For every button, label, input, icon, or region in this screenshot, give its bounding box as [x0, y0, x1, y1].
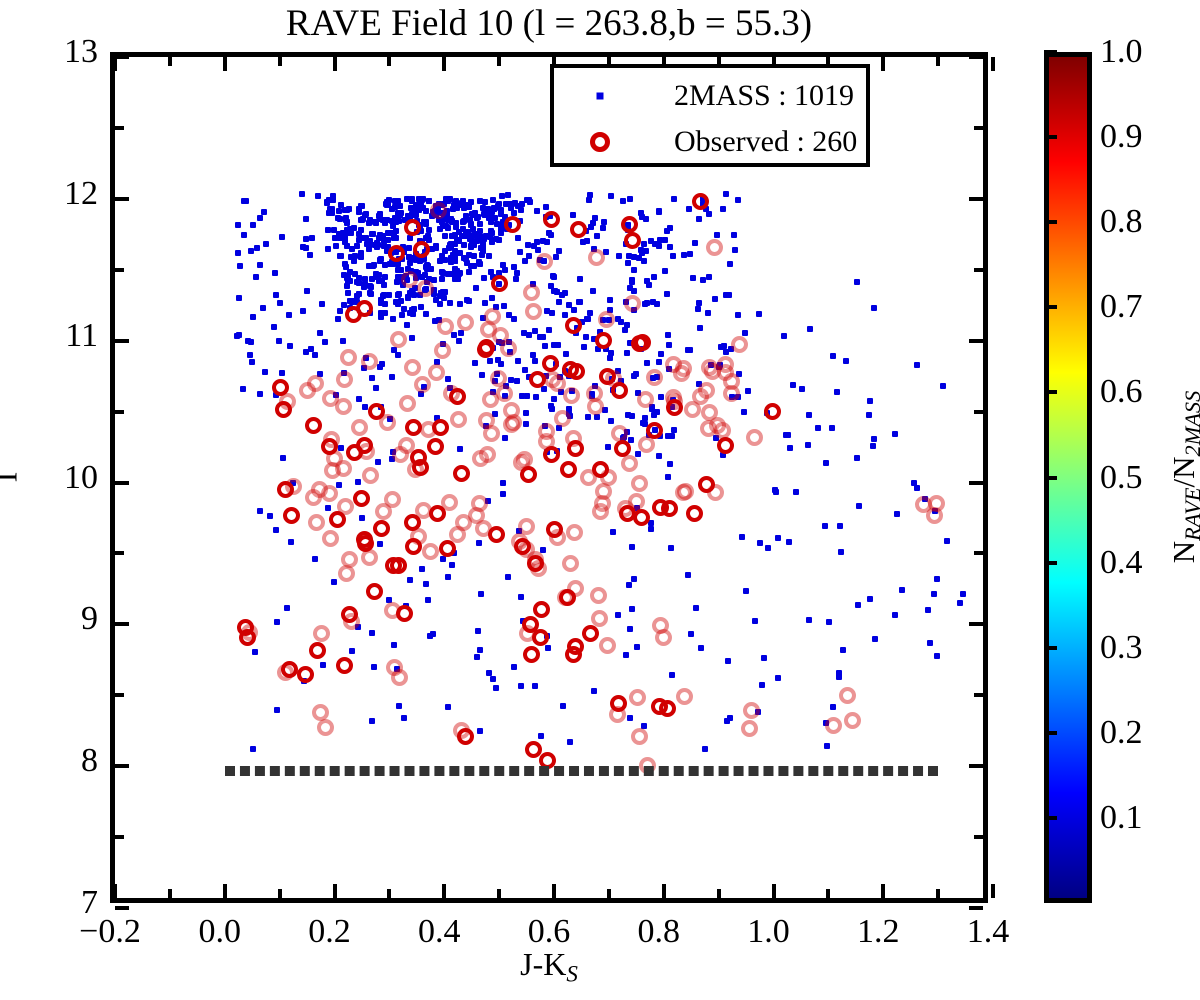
observed-point: [567, 580, 584, 597]
twomass-point: [854, 455, 860, 461]
twomass-point: [288, 539, 294, 545]
observed-point: [384, 491, 401, 508]
y-tick-label: 13: [0, 35, 98, 69]
twomass-point: [263, 241, 269, 247]
x-minor-tick: [278, 889, 282, 898]
observed-point: [336, 657, 353, 674]
twomass-point: [335, 316, 341, 322]
twomass-point: [331, 227, 337, 233]
twomass-point: [307, 252, 313, 258]
twomass-point: [822, 523, 828, 529]
observed-point: [335, 460, 352, 477]
twomass-point: [447, 300, 453, 306]
twomass-point: [463, 256, 469, 262]
twomass-point: [404, 322, 410, 328]
twomass-point: [496, 237, 502, 243]
x-axis-title-main: J-K: [520, 946, 566, 982]
y-minor-tick: [115, 835, 124, 839]
colorbar-tick: [1044, 305, 1057, 309]
twomass-point: [418, 304, 424, 310]
twomass-point: [855, 602, 861, 608]
twomass-point: [468, 263, 474, 269]
twomass-point: [785, 432, 791, 438]
twomass-point: [759, 682, 765, 688]
twomass-point: [477, 728, 483, 734]
twomass-point: [248, 248, 254, 254]
twomass-point: [466, 298, 472, 304]
observed-point: [631, 475, 648, 492]
y-minor-tick: [974, 551, 983, 555]
observed-point: [323, 431, 340, 448]
twomass-point: [773, 489, 779, 495]
twomass-point: [430, 631, 436, 637]
twomass-point: [805, 442, 811, 448]
twomass-point: [423, 311, 429, 317]
observed-point: [415, 502, 432, 519]
twomass-point: [326, 210, 332, 216]
observed-point: [562, 555, 579, 572]
observed-point: [706, 239, 723, 256]
twomass-point: [274, 619, 280, 625]
twomass-point: [515, 235, 521, 241]
colorbar-tick-label: 0.9: [1100, 120, 1143, 154]
observed-point: [388, 245, 405, 262]
twomass-point: [359, 515, 365, 521]
twomass-point: [668, 545, 674, 551]
x-minor-tick: [278, 57, 282, 66]
observed-point: [566, 524, 583, 541]
twomass-point: [829, 425, 835, 431]
twomass-point: [656, 453, 662, 459]
twomass-point: [725, 658, 731, 664]
twomass-point: [456, 338, 462, 344]
twomass-point: [338, 202, 344, 208]
twomass-point: [648, 526, 654, 532]
twomass-point: [892, 431, 898, 437]
twomass-point: [526, 253, 532, 259]
twomass-point: [623, 652, 629, 658]
twomass-point: [407, 577, 413, 583]
twomass-point: [349, 648, 355, 654]
twomass-point: [620, 198, 626, 204]
twomass-point: [366, 220, 372, 226]
twomass-point: [518, 683, 524, 689]
twomass-point: [409, 288, 415, 294]
twomass-point: [254, 245, 260, 251]
chart-title: RAVE Field 10 (l = 263.8,b = 55.3): [110, 2, 988, 46]
colorbar-wrap: 0.10.20.30.40.50.60.70.80.91.0: [1044, 52, 1092, 903]
twomass-point: [309, 235, 315, 241]
twomass-point: [761, 655, 767, 661]
twomass-point: [461, 242, 467, 248]
twomass-point: [745, 388, 751, 394]
twomass-point: [720, 206, 726, 212]
x-tick-label: 0.4: [418, 915, 461, 949]
y-tick-label: 8: [0, 744, 98, 778]
twomass-point: [671, 427, 677, 433]
twomass-point: [473, 285, 479, 291]
twomass-point: [871, 436, 877, 442]
twomass-point: [426, 227, 432, 233]
x-axis-title-sub: S: [566, 960, 578, 986]
colorbar-tick: [1044, 135, 1057, 139]
twomass-point: [583, 334, 589, 340]
twomass-point: [482, 199, 488, 205]
twomass-point: [741, 409, 747, 415]
twomass-point: [934, 653, 940, 659]
twomass-point: [284, 605, 290, 611]
twomass-point: [433, 297, 439, 303]
twomass-point: [696, 216, 702, 222]
observed-point: [368, 403, 385, 420]
observed-point: [434, 342, 451, 359]
twomass-point: [366, 246, 372, 252]
twomass-point: [836, 670, 842, 676]
observed-point: [523, 284, 540, 301]
twomass-point: [303, 216, 309, 222]
legend-item[interactable]: Observed : 260: [554, 120, 866, 164]
observed-point: [277, 481, 294, 498]
twomass-point: [338, 253, 344, 259]
twomass-point: [374, 244, 380, 250]
x-tick: [881, 884, 885, 898]
twomass-point: [356, 237, 362, 243]
twomass-point: [250, 746, 256, 752]
observed-point: [353, 490, 370, 507]
twomass-point: [656, 208, 662, 214]
x-minor-tick: [717, 889, 721, 898]
y-tick-label: 12: [0, 177, 98, 211]
twomass-point: [358, 254, 364, 260]
twomass-point: [524, 393, 530, 399]
twomass-point: [393, 235, 399, 241]
twomass-point: [927, 640, 933, 646]
legend-item[interactable]: 2MASS : 1019: [554, 74, 866, 118]
twomass-point: [584, 238, 590, 244]
legend-label: 2MASS : 1019: [674, 79, 854, 113]
twomass-point: [493, 685, 499, 691]
twomass-point: [590, 288, 596, 294]
twomass-point: [635, 451, 641, 457]
twomass-point: [336, 231, 342, 237]
twomass-point: [373, 385, 379, 391]
twomass-point: [452, 202, 458, 208]
twomass-point: [530, 352, 536, 358]
twomass-point: [413, 257, 419, 263]
observed-point: [313, 625, 330, 642]
twomass-point: [732, 247, 738, 253]
twomass-point: [624, 350, 630, 356]
observed-point: [504, 216, 521, 233]
twomass-point: [433, 243, 439, 249]
twomass-point: [665, 474, 671, 480]
twomass-point: [368, 284, 374, 290]
twomass-point: [532, 683, 538, 689]
twomass-point: [474, 654, 480, 660]
y-minor-tick: [974, 126, 983, 130]
y-minor-tick: [974, 268, 983, 272]
observed-point: [723, 373, 740, 390]
observed-point: [595, 483, 612, 500]
twomass-point: [461, 218, 467, 224]
observed-point: [311, 481, 328, 498]
observed-point: [404, 359, 421, 376]
twomass-point: [526, 332, 532, 338]
twomass-point: [487, 212, 493, 218]
twomass-point: [706, 274, 712, 280]
observed-point: [565, 317, 582, 334]
twomass-point: [299, 191, 305, 197]
observed-point: [432, 419, 449, 436]
twomass-point: [356, 396, 362, 402]
observed-point: [549, 375, 566, 392]
y-minor-tick: [115, 693, 124, 697]
twomass-point: [500, 262, 506, 268]
twomass-point: [459, 200, 465, 206]
twomass-point: [500, 480, 506, 486]
twomass-point: [395, 198, 401, 204]
twomass-point: [479, 372, 485, 378]
twomass-point: [856, 503, 862, 509]
observed-point: [614, 440, 631, 457]
twomass-point: [370, 231, 376, 237]
twomass-point: [319, 301, 325, 307]
observed-point: [590, 587, 607, 604]
twomass-point: [658, 394, 664, 400]
y-tick: [115, 622, 129, 626]
twomass-point: [395, 292, 401, 298]
twomass-point: [439, 257, 445, 263]
observed-point: [605, 370, 622, 387]
twomass-point: [522, 367, 528, 373]
x-tick: [442, 884, 446, 898]
twomass-point: [325, 246, 331, 252]
twomass-point: [608, 418, 614, 424]
twomass-point: [344, 283, 350, 289]
twomass-point: [670, 253, 676, 259]
colorbar-tick: [1044, 220, 1057, 224]
twomass-point: [303, 349, 309, 355]
observed-point: [384, 602, 401, 619]
twomass-point: [382, 310, 388, 316]
twomass-point: [367, 238, 373, 244]
twomass-point: [697, 325, 703, 331]
observed-point: [628, 493, 645, 510]
twomass-point: [560, 703, 566, 709]
observed-point: [475, 520, 492, 537]
y-tick: [115, 481, 129, 485]
twomass-point: [549, 310, 555, 316]
observed-point: [518, 518, 535, 535]
twomass-point: [502, 435, 508, 441]
twomass-point: [636, 255, 642, 261]
observed-point: [281, 661, 298, 678]
observed-point: [698, 476, 715, 493]
twomass-point: [644, 278, 650, 284]
twomass-point: [914, 362, 920, 368]
twomass-point: [487, 358, 493, 364]
twomass-point: [815, 425, 821, 431]
observed-point: [336, 371, 353, 388]
twomass-point: [551, 396, 557, 402]
twomass-point: [629, 606, 635, 612]
twomass-point: [324, 199, 330, 205]
twomass-point: [409, 335, 415, 341]
y-tick-label: 9: [0, 602, 98, 636]
twomass-point: [325, 227, 331, 233]
observed-point: [543, 211, 560, 228]
observed-point: [533, 601, 550, 618]
twomass-point: [486, 253, 492, 259]
twomass-point: [404, 196, 410, 202]
twomass-point: [957, 600, 963, 606]
observed-point: [530, 560, 547, 577]
observed-point: [413, 241, 430, 258]
twomass-point: [386, 292, 392, 298]
twomass-point: [629, 544, 635, 550]
plot-area: [115, 57, 983, 898]
twomass-point: [257, 215, 263, 221]
observed-point: [629, 689, 646, 706]
twomass-point: [592, 215, 598, 221]
twomass-point: [757, 540, 763, 546]
observed-point: [405, 419, 422, 436]
twomass-point: [685, 347, 691, 353]
twomass-point: [340, 338, 346, 344]
twomass-point: [538, 733, 544, 739]
observed-point: [563, 387, 580, 404]
twomass-point: [899, 587, 905, 593]
twomass-point: [481, 275, 487, 281]
twomass-point: [914, 485, 920, 491]
twomass-point: [250, 314, 256, 320]
twomass-point: [277, 300, 283, 306]
observed-point: [428, 364, 445, 381]
observed-point: [317, 719, 334, 736]
twomass-point: [799, 386, 805, 392]
observed-point: [665, 356, 682, 373]
twomass-point: [664, 291, 670, 297]
twomass-point: [405, 294, 411, 300]
twomass-point: [452, 258, 458, 264]
twomass-point: [629, 413, 635, 419]
observed-point: [385, 557, 402, 574]
x-tick: [991, 57, 995, 71]
twomass-point: [391, 347, 397, 353]
twomass-point: [495, 357, 501, 363]
twomass-point: [381, 282, 387, 288]
twomass-point: [685, 572, 691, 578]
twomass-point: [626, 582, 632, 588]
x-tick: [991, 884, 995, 898]
observed-point: [437, 318, 454, 335]
twomass-point: [742, 330, 748, 336]
twomass-point: [690, 275, 696, 281]
y-tick: [115, 339, 129, 343]
observed-point: [639, 757, 656, 774]
x-tick: [223, 57, 227, 71]
twomass-point: [271, 324, 277, 330]
twomass-point: [775, 535, 781, 541]
y-tick: [115, 197, 129, 201]
twomass-point: [378, 256, 384, 262]
observed-point: [361, 353, 378, 370]
colorbar-title: NRAVE/N2MASS: [1166, 391, 1200, 563]
twomass-point: [445, 704, 451, 710]
x-minor-tick: [387, 57, 391, 66]
x-minor-tick: [826, 889, 830, 898]
twomass-point: [240, 386, 246, 392]
twomass-point: [505, 574, 511, 580]
twomass-point: [260, 305, 266, 311]
twomass-point: [871, 305, 877, 311]
twomass-point: [519, 201, 525, 207]
twomass-point: [344, 275, 350, 281]
x-minor-tick: [497, 57, 501, 66]
observed-point: [414, 376, 431, 393]
twomass-point: [257, 391, 263, 397]
colorbar-tick-label: 0.5: [1100, 461, 1143, 495]
x-tick-label: 0.2: [308, 915, 351, 949]
twomass-point: [944, 538, 950, 544]
twomass-point: [498, 211, 504, 217]
observed-point: [337, 498, 354, 515]
twomass-point: [425, 597, 431, 603]
twomass-point: [545, 645, 551, 651]
observed-point: [588, 249, 605, 266]
twomass-point: [445, 376, 451, 382]
twomass-point: [337, 308, 343, 314]
twomass-point: [336, 482, 342, 488]
observed-point: [562, 361, 579, 378]
twomass-point: [279, 234, 285, 240]
twomass-point: [523, 410, 529, 416]
x-tick: [552, 884, 556, 898]
y-tick: [969, 481, 983, 485]
twomass-point: [872, 636, 878, 642]
twomass-point: [401, 715, 407, 721]
observed-point: [430, 202, 447, 219]
twomass-point: [312, 352, 318, 358]
twomass-point: [540, 334, 546, 340]
twomass-point: [466, 202, 472, 208]
twomass-point: [513, 276, 519, 282]
twomass-point: [342, 239, 348, 245]
twomass-point: [627, 285, 633, 291]
observed-point: [457, 314, 474, 331]
x-tick: [113, 57, 117, 71]
colorbar-tick: [1044, 646, 1057, 650]
y-tick: [969, 339, 983, 343]
twomass-point: [700, 277, 706, 283]
observed-point: [427, 438, 444, 455]
twomass-point: [391, 230, 397, 236]
twomass-point: [480, 237, 486, 243]
colorbar-tick-label: 1.0: [1100, 35, 1143, 69]
twomass-point: [629, 279, 635, 285]
twomass-point: [705, 310, 711, 316]
twomass-point: [695, 306, 701, 312]
colorbar-tick-label: 0.7: [1100, 290, 1143, 324]
x-tick: [333, 57, 337, 71]
twomass-point: [548, 403, 554, 409]
twomass-point: [243, 198, 249, 204]
observed-point: [341, 606, 358, 623]
observed-point: [422, 543, 439, 560]
twomass-point: [696, 300, 702, 306]
observed-point: [373, 520, 390, 537]
observed-point: [450, 411, 467, 428]
